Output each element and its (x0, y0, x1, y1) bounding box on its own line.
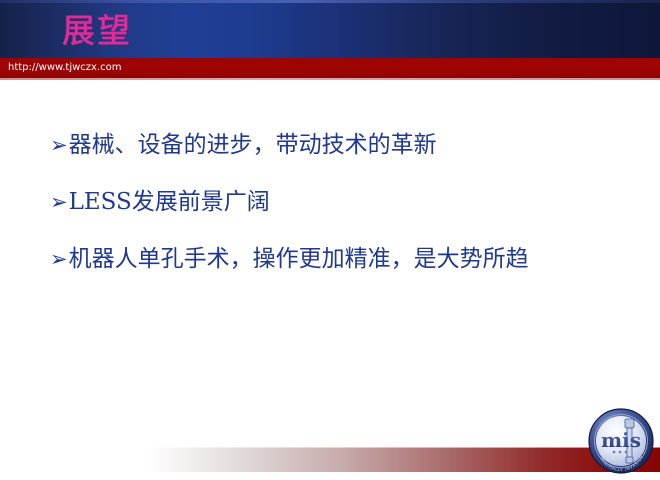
list-item: ➢ 器械、设备的进步，带动技术的革新 (50, 130, 640, 160)
list-item: ➢ LESS发展前景广阔 (50, 187, 640, 217)
header-top-highlight-line (0, 0, 660, 3)
bottom-decorative-band (148, 448, 660, 472)
website-url-text[interactable]: http://www.tjwczx.com (8, 58, 122, 78)
list-item-text: 器械、设备的进步，带动技术的革新 (69, 130, 640, 160)
mis-logo: mis MINIMALLY INVASIVE SURGERY (587, 407, 655, 475)
list-item: ➢ 机器人单孔手术，操作更加精准，是大势所趋 (50, 244, 640, 274)
arrow-bullet-icon: ➢ (50, 244, 68, 274)
logo-wordmark: mis (601, 428, 641, 452)
url-bar-underline (0, 78, 660, 80)
bullet-list: ➢ 器械、设备的进步，带动技术的革新 ➢ LESS发展前景广阔 ➢ 机器人单孔手… (50, 130, 640, 301)
list-item-text: LESS发展前景广阔 (69, 187, 640, 217)
arrow-bullet-icon: ➢ (50, 130, 68, 160)
slide-title: 展望 (62, 8, 132, 54)
list-item-text: 机器人单孔手术，操作更加精准，是大势所趋 (69, 244, 640, 274)
presentation-slide: 展望 http://www.tjwczx.com ➢ 器械、设备的进步，带动技术… (0, 0, 660, 480)
arrow-bullet-icon: ➢ (50, 187, 68, 217)
